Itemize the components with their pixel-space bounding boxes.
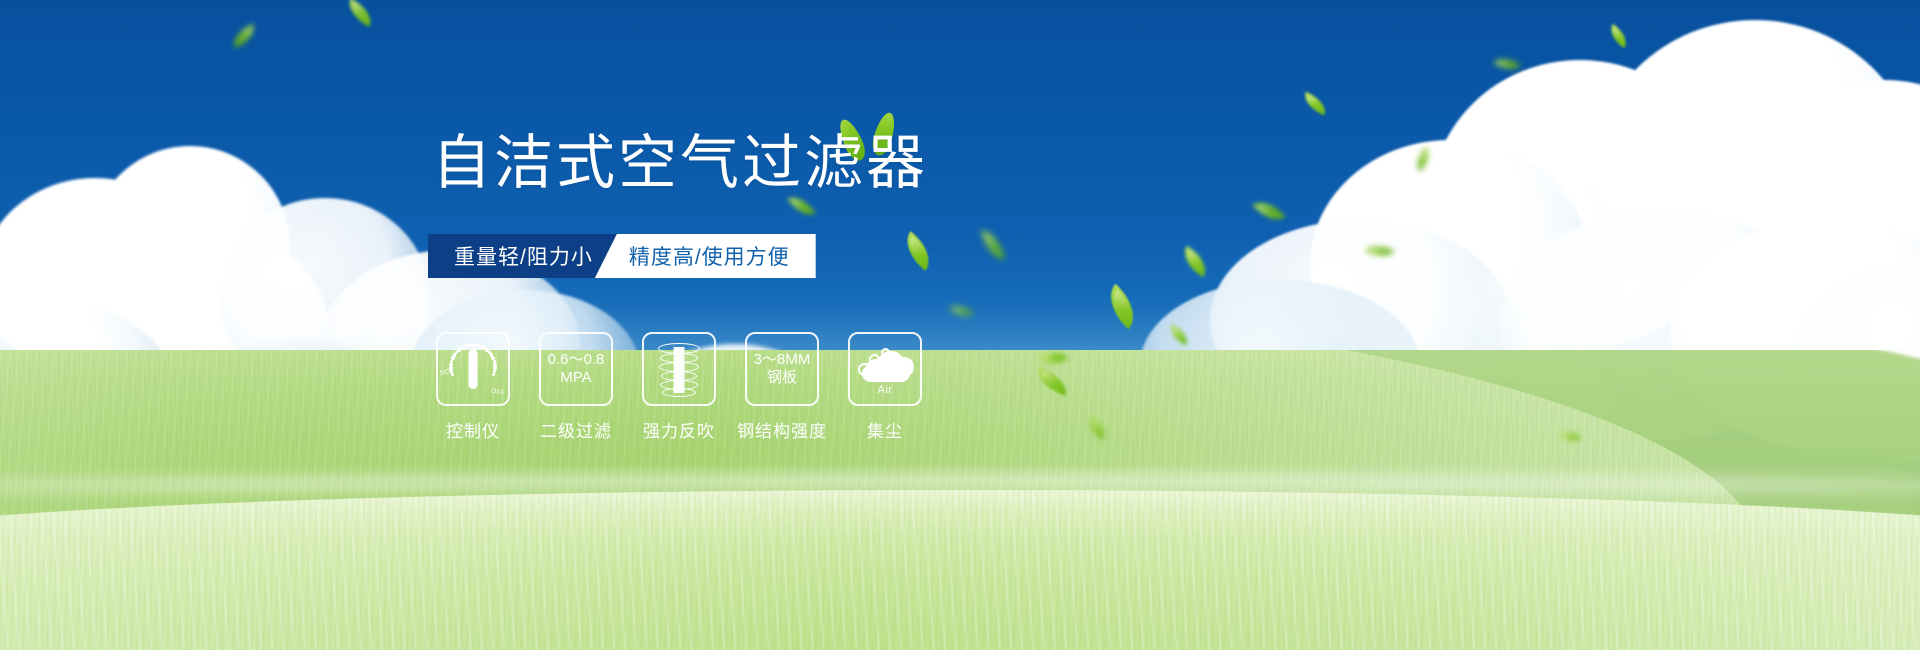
- feature-box-dust: Air: [848, 332, 922, 406]
- tag-precision-convenience: 精度高/使用方便: [595, 234, 816, 278]
- banner-content: 自洁式空气过滤器 重量轻/阻力小 精度高/使用方便 NO OFF: [0, 0, 1920, 650]
- page-title: 自洁式空气过滤器: [432, 132, 928, 195]
- feature-box-backblow: [642, 332, 716, 406]
- feature-label-backblow: 强力反吹: [643, 417, 715, 442]
- feature-box-pressure: 0.6～0.8 MPA: [539, 332, 613, 406]
- feature-box-steel: 3～8MM 钢板: [745, 332, 819, 406]
- gauge-icon: NO OFF: [442, 340, 504, 398]
- feature-tag-bar: 重量轻/阻力小 精度高/使用方便: [428, 234, 816, 278]
- gauge-on-label: NO: [440, 368, 451, 376]
- feature-label-controller: 控制仪: [446, 417, 500, 442]
- feature-icon-row: NO OFF 控制仪 0.6～0.8 MPA 二级过滤: [436, 332, 922, 442]
- tag-primary-label: 重量轻/阻力小: [454, 241, 593, 271]
- gauge-dot: [449, 363, 452, 366]
- feature-item-backblow: 强力反吹: [642, 332, 716, 442]
- gauge-dot: [451, 373, 454, 376]
- tag-weight-resistance: 重量轻/阻力小: [428, 234, 617, 278]
- feature-label-pressure: 二级过滤: [540, 417, 612, 442]
- tag-secondary-label: 精度高/使用方便: [629, 241, 790, 271]
- pressure-range-text: 0.6～0.8: [548, 351, 605, 369]
- air-label: Air: [856, 384, 914, 396]
- gauge-dot: [492, 373, 495, 376]
- pressure-unit-text: MPA: [560, 369, 591, 387]
- steel-plate-text: 钢板: [767, 369, 797, 387]
- feature-item-dust: Air 集尘: [848, 332, 922, 442]
- steel-thickness-text: 3～8MM: [754, 351, 811, 369]
- gauge-dot: [451, 356, 454, 359]
- hero-banner: 自洁式空气过滤器 重量轻/阻力小 精度高/使用方便 NO OFF: [0, 0, 1920, 650]
- feature-box-controller: NO OFF: [436, 332, 510, 406]
- air-cloud-icon: Air: [856, 345, 914, 393]
- feature-item-pressure: 0.6～0.8 MPA 二级过滤: [539, 332, 613, 442]
- feature-item-controller: NO OFF 控制仪: [436, 332, 510, 442]
- gauge-dot: [450, 360, 453, 363]
- cartridge-icon: [655, 341, 703, 397]
- feature-label-dust: 集尘: [867, 417, 903, 442]
- feature-label-steel: 钢结构强度: [737, 417, 827, 442]
- feature-item-steel: 3～8MM 钢板 钢结构强度: [745, 332, 819, 442]
- gauge-off-label: OFF: [491, 388, 506, 398]
